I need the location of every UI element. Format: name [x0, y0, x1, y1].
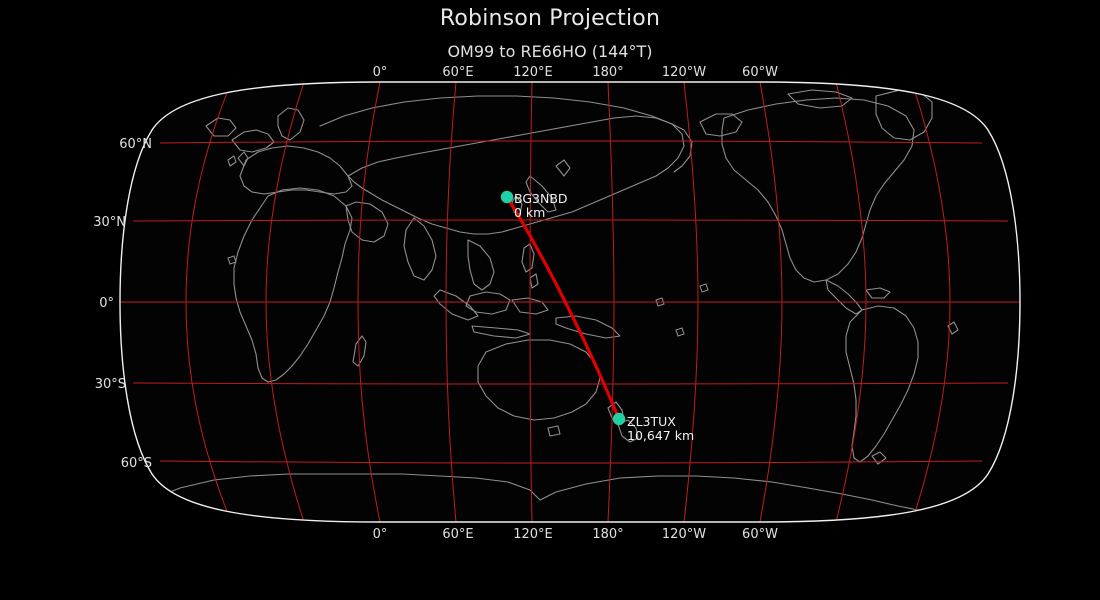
tick-bottom-5: 60°W [742, 527, 778, 542]
tick-left-60N: 60°N [119, 137, 152, 152]
tick-top-2: 120°E [513, 65, 553, 80]
origin-distance-label: 0 km [514, 205, 545, 220]
origin-marker-dot[interactable] [501, 191, 513, 203]
tick-left-60S: 60°S [121, 456, 152, 471]
top-longitude-tick-labels: 0° 60°E 120°E 180° 120°W 60°W [373, 65, 778, 80]
map-canvas[interactable]: BG3NBD 0 km ZL3TUX 10,647 km 0° 60°E 120… [0, 0, 1100, 600]
tick-bottom-3: 180° [592, 527, 623, 542]
tick-top-3: 180° [592, 65, 623, 80]
tick-top-4: 120°W [662, 65, 706, 80]
tick-bottom-4: 120°W [662, 527, 706, 542]
tick-left-30S: 30°S [95, 377, 126, 392]
origin-callsign-label: BG3NBD [514, 191, 568, 206]
tick-top-1: 60°E [442, 65, 473, 80]
tick-bottom-1: 60°E [442, 527, 473, 542]
tick-top-0: 0° [373, 65, 388, 80]
tick-left-0: 0° [99, 296, 114, 311]
tick-top-5: 60°W [742, 65, 778, 80]
robinson-map-svg[interactable]: BG3NBD 0 km ZL3TUX 10,647 km 0° 60°E 120… [0, 0, 1100, 600]
tick-left-30N: 30°N [93, 215, 126, 230]
tick-bottom-0: 0° [373, 527, 388, 542]
map-figure: Robinson Projection OM99 to RE66HO (144°… [0, 0, 1100, 600]
destination-callsign-label: ZL3TUX [627, 414, 676, 429]
destination-distance-label: 10,647 km [627, 428, 694, 443]
tick-bottom-2: 120°E [513, 527, 553, 542]
destination-marker-dot[interactable] [613, 413, 625, 425]
bottom-longitude-tick-labels: 0° 60°E 120°E 180° 120°W 60°W [373, 527, 778, 542]
